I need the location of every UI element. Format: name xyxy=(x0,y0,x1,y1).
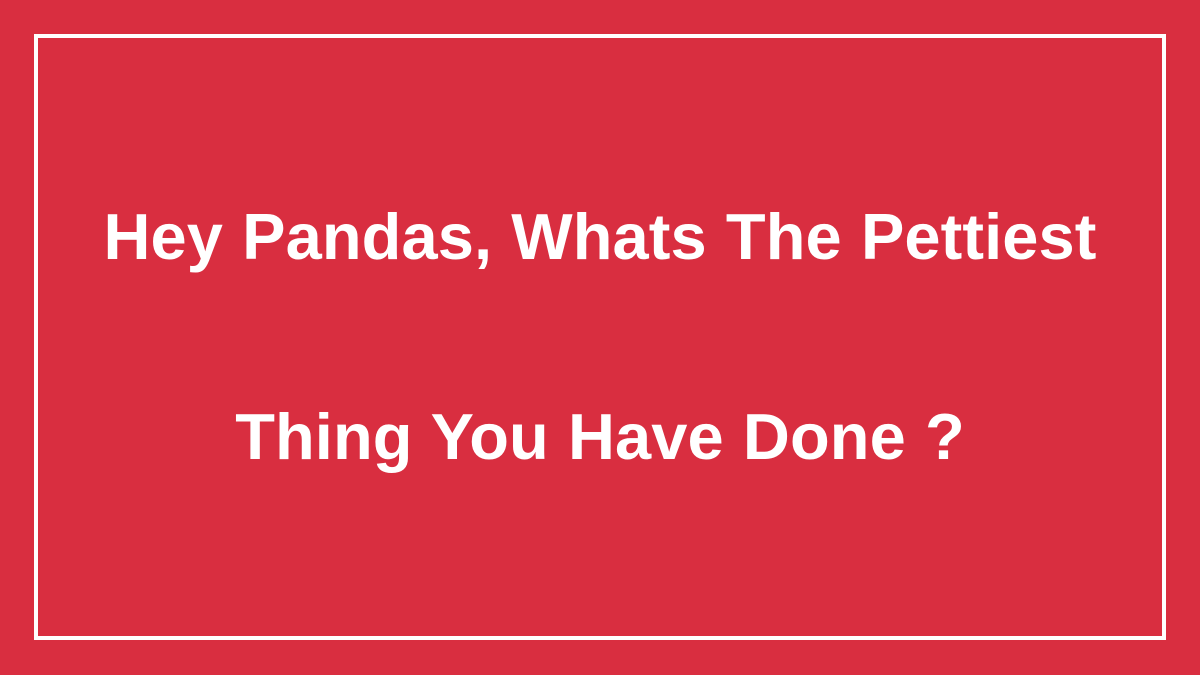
headline-text: Hey Pandas, Whats The Pettiest Thing You… xyxy=(60,87,1140,587)
title-card-banner: Hey Pandas, Whats The Pettiest Thing You… xyxy=(0,0,1200,675)
headline-line-2: Thing You Have Done ? xyxy=(60,387,1140,487)
headline-line-1: Hey Pandas, Whats The Pettiest xyxy=(60,187,1140,287)
headline-container: Hey Pandas, Whats The Pettiest Thing You… xyxy=(34,34,1166,640)
